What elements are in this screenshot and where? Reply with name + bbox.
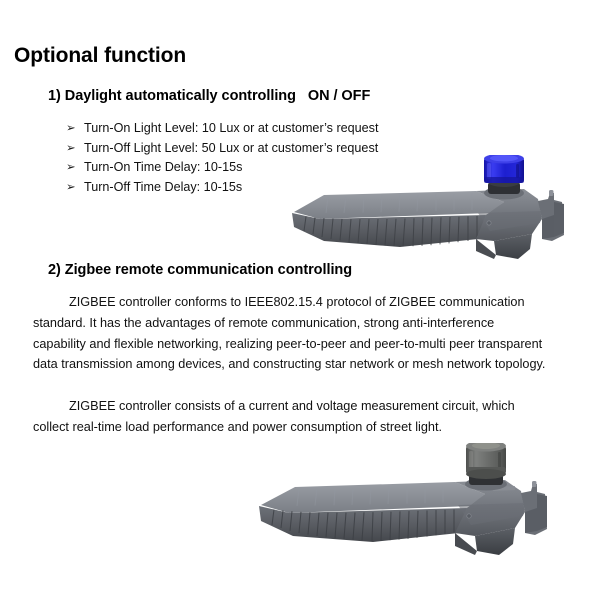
zigbee-paragraph-2: ZIGBEE controller consists of a current … [33,396,549,438]
blue-photocell-sensor-icon [484,155,524,183]
bracket-bolt-icon [549,190,554,196]
paragraph-text: ZIGBEE controller consists of a current … [33,399,515,434]
luminaire-illustration [247,443,557,563]
list-item: ➢ Turn-On Light Level: 10 Lux or at cust… [66,119,378,139]
paragraph-text: ZIGBEE controller conforms to IEEE802.15… [33,295,545,371]
zigbee-paragraph-1: ZIGBEE controller conforms to IEEE802.15… [33,292,549,375]
arrow-bullet-icon: ➢ [66,139,84,158]
list-item-label: Turn-On Light Level: 10 Lux or at custom… [84,119,378,138]
page-title: Optional function [14,44,186,67]
document-page: Optional function 1) Daylight automatica… [0,0,600,600]
bracket-bolt-icon [532,481,537,487]
section-1-heading: 1) Daylight automatically controlling ON… [48,88,370,104]
street-light-with-blue-photocell-image [280,155,566,265]
list-item-label: Turn-On Time Delay: 10-15s [84,158,242,177]
arrow-bullet-icon: ➢ [66,120,84,139]
street-light-with-zigbee-module-image [247,443,557,563]
list-item-label: Turn-Off Time Delay: 10-15s [84,178,242,197]
arrow-bullet-icon: ➢ [66,159,84,178]
arrow-bullet-icon: ➢ [66,178,84,197]
luminaire-illustration [280,155,566,265]
zigbee-module-icon [466,443,506,479]
screw-icon [487,221,491,225]
screw-icon [467,514,471,518]
section-2-heading: 2) Zigbee remote communication controlli… [48,262,352,278]
